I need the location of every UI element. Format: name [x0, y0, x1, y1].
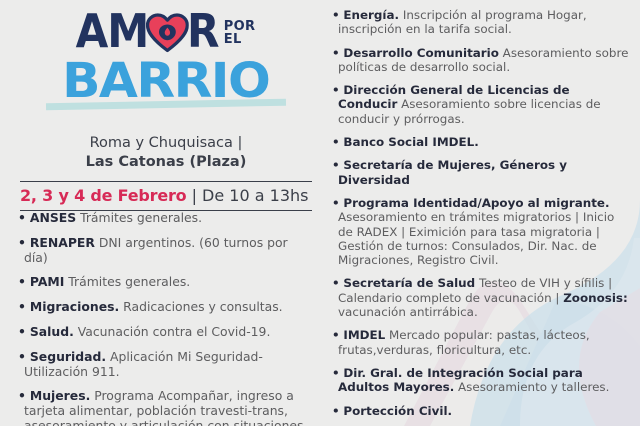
list-item-title: Programa Identidad/Apoyo al migrante.: [343, 196, 609, 210]
list-item-detail: Trámites generales.: [64, 274, 190, 289]
logo-line-amor: AM R POR EL: [18, 6, 314, 60]
list-bullet: •: [332, 404, 340, 418]
list-item-title: ANSES: [30, 210, 76, 225]
list-item: • Migraciones. Radicaciones y consultas.: [18, 300, 314, 315]
list-item: • Mujeres. Programa Acompañar, ingreso a…: [18, 389, 314, 426]
list-item-title: RENAPER: [30, 235, 95, 250]
list-bullet: •: [332, 328, 340, 342]
list-item: • Portección Civil.: [332, 404, 630, 418]
poster-columns: AM R POR EL: [0, 0, 640, 426]
logo-letter-r: R: [187, 6, 218, 56]
list-item: • RENAPER DNI argentinos. (60 turnos por…: [18, 236, 314, 266]
list-item: • Energía. Inscripción al programa Hogar…: [332, 8, 630, 37]
list-item-title: Portección Civil.: [343, 404, 452, 418]
venue-address: Roma y Chuquisaca | Las Catonas (Plaza): [18, 134, 314, 172]
list-bullet: •: [332, 158, 340, 172]
list-item: • Banco Social IMDEL.: [332, 135, 630, 149]
list-item: • PAMI Trámites generales.: [18, 275, 314, 290]
list-item-title: Secretaría de Salud: [343, 276, 475, 290]
list-item-title: Seguridad.: [30, 349, 106, 364]
list-bullet: •: [332, 135, 340, 149]
list-bullet: •: [332, 196, 340, 210]
list-item-detail: Trámites generales.: [76, 210, 202, 225]
list-bullet: •: [332, 276, 340, 290]
right-column: • Energía. Inscripción al programa Hogar…: [326, 0, 640, 426]
list-bullet: •: [18, 388, 26, 403]
list-item-title: Banco Social IMDEL.: [343, 135, 478, 149]
list-bullet: •: [18, 324, 26, 339]
logo-letters-am: AM: [75, 6, 148, 56]
list-item: • Secretaría de Salud Testeo de VIH y sí…: [332, 276, 630, 319]
list-item-title: Mujeres.: [30, 388, 90, 403]
right-services-list: • Energía. Inscripción al programa Hogar…: [332, 8, 630, 418]
list-bullet: •: [332, 46, 340, 60]
list-item: • Programa Identidad/Apoyo al migrante. …: [332, 196, 630, 267]
left-services-list: • ANSES Trámites generales.• RENAPER DNI…: [18, 211, 314, 426]
list-item-title: Migraciones.: [30, 299, 119, 314]
list-bullet: •: [332, 8, 340, 22]
list-item: • Dirección General de Licencias de Cond…: [332, 83, 630, 126]
list-item: • Salud. Vacunación contra el Covid-19.: [18, 325, 314, 340]
event-hours: De 10 a 13hs: [202, 186, 308, 205]
event-dates: 2, 3 y 4 de Febrero: [20, 186, 186, 205]
list-item: • Dir. Gral. de Integración Social para …: [332, 366, 630, 395]
address-line-1: Roma y Chuquisaca |: [18, 134, 314, 153]
list-bullet: •: [18, 235, 26, 250]
list-item-subtitle: Zoonosis:: [563, 291, 628, 305]
list-bullet: •: [18, 210, 26, 225]
list-bullet: •: [332, 83, 340, 97]
logo-word-barrio: BARRIO: [62, 56, 269, 106]
address-line-2: Las Catonas (Plaza): [18, 153, 314, 172]
list-bullet: •: [18, 299, 26, 314]
list-item-title: Salud.: [30, 324, 74, 339]
heart-with-flame-icon: [146, 12, 189, 52]
list-item-detail: Vacunación contra el Covid-19.: [74, 324, 271, 339]
list-item-detail: Radicaciones y consultas.: [119, 299, 282, 314]
amor-por-el-barrio-logo: AM R POR EL: [18, 6, 314, 126]
list-item-title: PAMI: [30, 274, 64, 289]
list-item-detail: Asesoramiento en trámites migratorios | …: [338, 210, 614, 267]
logo-word-amor: AM R: [75, 6, 218, 56]
list-item: • Seguridad. Aplicación Mi Seguridad-Uti…: [18, 350, 314, 380]
list-bullet: •: [18, 274, 26, 289]
list-item: • ANSES Trámites generales.: [18, 211, 314, 226]
list-item: • Secretaría de Mujeres, Géneros y Diver…: [332, 158, 630, 187]
list-item-detail: Asesoramiento y talleres.: [454, 380, 609, 394]
left-column: AM R POR EL: [0, 0, 326, 426]
list-item: • Desarrollo Comunitario Asesoramiento s…: [332, 46, 630, 75]
date-and-hours-band: 2, 3 y 4 de Febrero | De 10 a 13hs: [20, 181, 312, 211]
list-item-title: Desarrollo Comunitario: [343, 46, 499, 60]
list-item-title: IMDEL: [343, 328, 385, 342]
list-item-title: Energía.: [343, 8, 399, 22]
logo-por-el: POR EL: [224, 20, 256, 46]
poster-canvas: AM R POR EL: [0, 0, 640, 426]
logo-el: EL: [224, 32, 242, 47]
list-item-subdetail: vacunación antirrábica.: [338, 305, 478, 319]
date-separator: |: [186, 186, 202, 205]
list-item-title: Secretaría de Mujeres, Géneros y Diversi…: [338, 158, 567, 186]
logo-line-barrio: BARRIO: [18, 56, 314, 106]
list-item: • IMDEL Mercado popular: pastas, lácteos…: [332, 328, 630, 357]
list-bullet: •: [18, 349, 26, 364]
list-bullet: •: [332, 366, 340, 380]
